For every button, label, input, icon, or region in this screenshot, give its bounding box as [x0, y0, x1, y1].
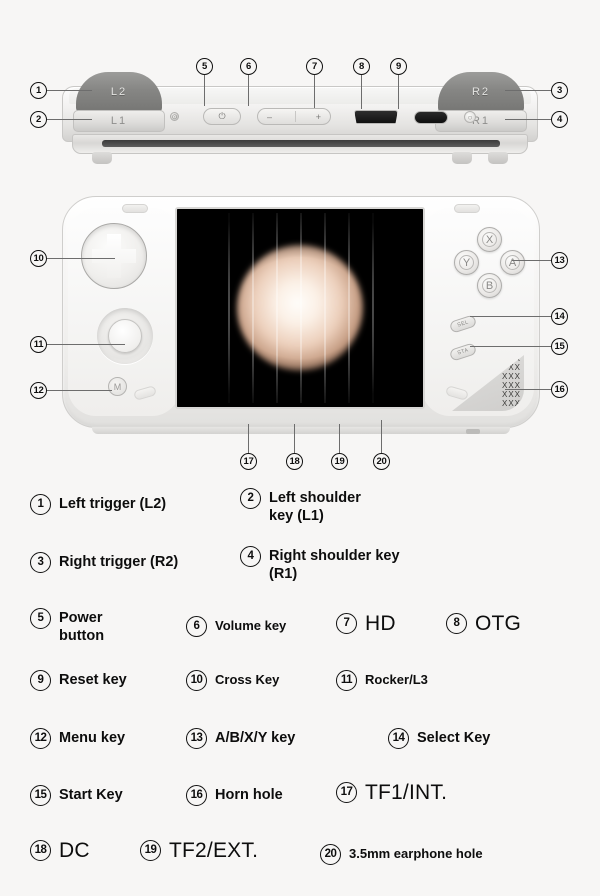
callout-17: 17: [240, 453, 257, 470]
device-top-view: L2 R2 L1 R1 ⊙ ⊙ ⏻ – + ○: [62, 72, 538, 158]
legend-item-18: 18 DC: [30, 840, 90, 862]
legend-item-7: 7 HD: [336, 613, 396, 635]
leader-12: [47, 390, 112, 391]
volume-key[interactable]: – +: [257, 108, 331, 125]
callout-3: 3: [551, 82, 568, 99]
legend-item-6: 6 Volume key: [186, 616, 286, 637]
callout-6: 6: [240, 58, 257, 75]
foot-right-2: [452, 152, 472, 164]
notch-right: [454, 204, 480, 213]
callout-13: 13: [551, 252, 568, 269]
menu-key[interactable]: M: [108, 377, 127, 396]
leader-16: [505, 389, 551, 390]
cross-key-dpad[interactable]: [81, 223, 147, 289]
top-view-seam: [102, 140, 500, 147]
leader-11: [47, 344, 125, 345]
callout-12: 12: [30, 382, 47, 399]
callout-14: 14: [551, 308, 568, 325]
foot-right: [488, 152, 508, 164]
left-shoulder-key-l1[interactable]: L1: [73, 110, 165, 132]
reset-key[interactable]: ○: [464, 111, 476, 123]
callout-4: 4: [551, 111, 568, 128]
power-icon: ⏻: [218, 111, 225, 122]
select-key-label: SEL: [457, 319, 470, 328]
leader-7: [314, 75, 315, 108]
otg-usbc-port: [414, 111, 448, 124]
l2-label: L2: [111, 86, 127, 98]
right-shoulder-key-r1[interactable]: R1: [435, 110, 527, 132]
volume-divider: [295, 111, 296, 122]
left-trigger-l2[interactable]: L2: [76, 72, 162, 112]
leader-1: [47, 90, 92, 91]
callout-18: 18: [286, 453, 303, 470]
leader-18: [294, 424, 295, 453]
callout-7: 7: [306, 58, 323, 75]
button-a-ring: [505, 255, 520, 270]
leader-6: [248, 75, 249, 106]
callout-20: 20: [373, 453, 390, 470]
rocker-l3-stick[interactable]: [108, 319, 142, 353]
notch-left: [122, 204, 148, 213]
leader-5: [204, 75, 205, 106]
legend-row-4: 9 Reset key 10 Cross Key 11 Rocker/L3: [0, 660, 600, 718]
callout-8: 8: [353, 58, 370, 75]
legend-item-8: 8 OTG: [446, 613, 521, 635]
legend-item-11: 11 Rocker/L3: [336, 670, 428, 691]
legend-item-20: 20 3.5mm earphone hole: [320, 844, 483, 865]
display-screen: [175, 207, 425, 409]
legend-item-16: 16 Horn hole: [186, 785, 283, 806]
legend-item-15: 15 Start Key: [30, 785, 123, 806]
legend-item-3: 3 Right trigger (R2): [30, 552, 178, 573]
r2-label: R2: [472, 86, 490, 98]
legend-item-1: 1 Left trigger (L2): [30, 494, 166, 515]
leader-9: [398, 75, 399, 109]
legend-item-19: 19 TF2/EXT.: [140, 840, 258, 862]
leader-17: [248, 424, 249, 453]
legend-row-6: 15 Start Key 16 Horn hole 17 TF1/INT.: [0, 775, 600, 832]
front-bottom-edge: [92, 427, 510, 434]
legend-row-2: 3 Right trigger (R2) 4 Right shoulder ke…: [0, 542, 600, 602]
callout-2: 2: [30, 111, 47, 128]
callout-5: 5: [196, 58, 213, 75]
leader-19: [339, 424, 340, 453]
legend-row-5: 12 Menu key 13 A/B/X/Y key 14 Select Key: [0, 718, 600, 775]
earphone-jack-notch: [466, 429, 480, 434]
hd-port: [354, 110, 398, 124]
legend-item-5: 5 Power button: [30, 608, 104, 645]
button-a[interactable]: A: [500, 250, 525, 275]
legend-row-1: 1 Left trigger (L2) 2 Left shoulder key …: [0, 484, 600, 542]
callout-19: 19: [331, 453, 348, 470]
legend-item-12: 12 Menu key: [30, 728, 125, 749]
diagram-canvas: L2 R2 L1 R1 ⊙ ⊙ ⏻ – + ○: [0, 0, 600, 896]
legend-row-3: 5 Power button 6 Volume key 7 HD 8 OTG: [0, 602, 600, 660]
dpad-cross-icon: [92, 234, 136, 278]
screw-icon-left: ⊙: [170, 112, 179, 121]
screen-vignette: [177, 209, 423, 407]
legend: 1 Left trigger (L2) 2 Left shoulder key …: [0, 484, 600, 887]
leader-13: [512, 260, 551, 261]
callout-11: 11: [30, 336, 47, 353]
button-b-ring: [482, 278, 497, 293]
callout-10: 10: [30, 250, 47, 267]
leader-3: [505, 90, 551, 91]
reset-pinhole-icon: ○: [468, 113, 473, 122]
leader-10: [47, 258, 115, 259]
leader-20: [381, 420, 382, 453]
button-y[interactable]: Y: [454, 250, 479, 275]
legend-item-4: 4 Right shoulder key (R1): [240, 546, 400, 583]
button-b[interactable]: B: [477, 273, 502, 298]
power-button[interactable]: ⏻: [203, 108, 241, 125]
menu-key-label: M: [114, 382, 122, 392]
button-x-ring: [482, 232, 497, 247]
callout-16: 16: [551, 381, 568, 398]
device-front-view: M X Y A B SEL STA X XX XXX: [62, 196, 540, 428]
legend-item-10: 10 Cross Key: [186, 670, 279, 691]
volume-up-icon: +: [316, 112, 321, 122]
legend-item-13: 13 A/B/X/Y key: [186, 728, 295, 749]
legend-item-17: 17 TF1/INT.: [336, 782, 447, 804]
legend-item-9: 9 Reset key: [30, 670, 127, 691]
leader-8: [361, 75, 362, 109]
leader-2: [47, 119, 92, 120]
right-trigger-r2[interactable]: R2: [438, 72, 524, 112]
rocker-l3-well: [97, 308, 153, 364]
button-x[interactable]: X: [477, 227, 502, 252]
callout-15: 15: [551, 338, 568, 355]
button-y-ring: [459, 255, 474, 270]
callout-9: 9: [390, 58, 407, 75]
leader-4: [505, 119, 551, 120]
volume-down-icon: –: [267, 112, 272, 122]
legend-item-14: 14 Select Key: [388, 728, 490, 749]
l1-label: L1: [111, 115, 127, 127]
legend-item-2: 2 Left shoulder key (L1): [240, 488, 361, 525]
foot-left: [92, 152, 112, 164]
leader-15: [470, 346, 551, 347]
legend-row-7: 18 DC 19 TF2/EXT. 20 3.5mm earphone hole: [0, 832, 600, 887]
start-key-label: STA: [457, 347, 470, 356]
leader-14: [470, 316, 551, 317]
callout-1: 1: [30, 82, 47, 99]
